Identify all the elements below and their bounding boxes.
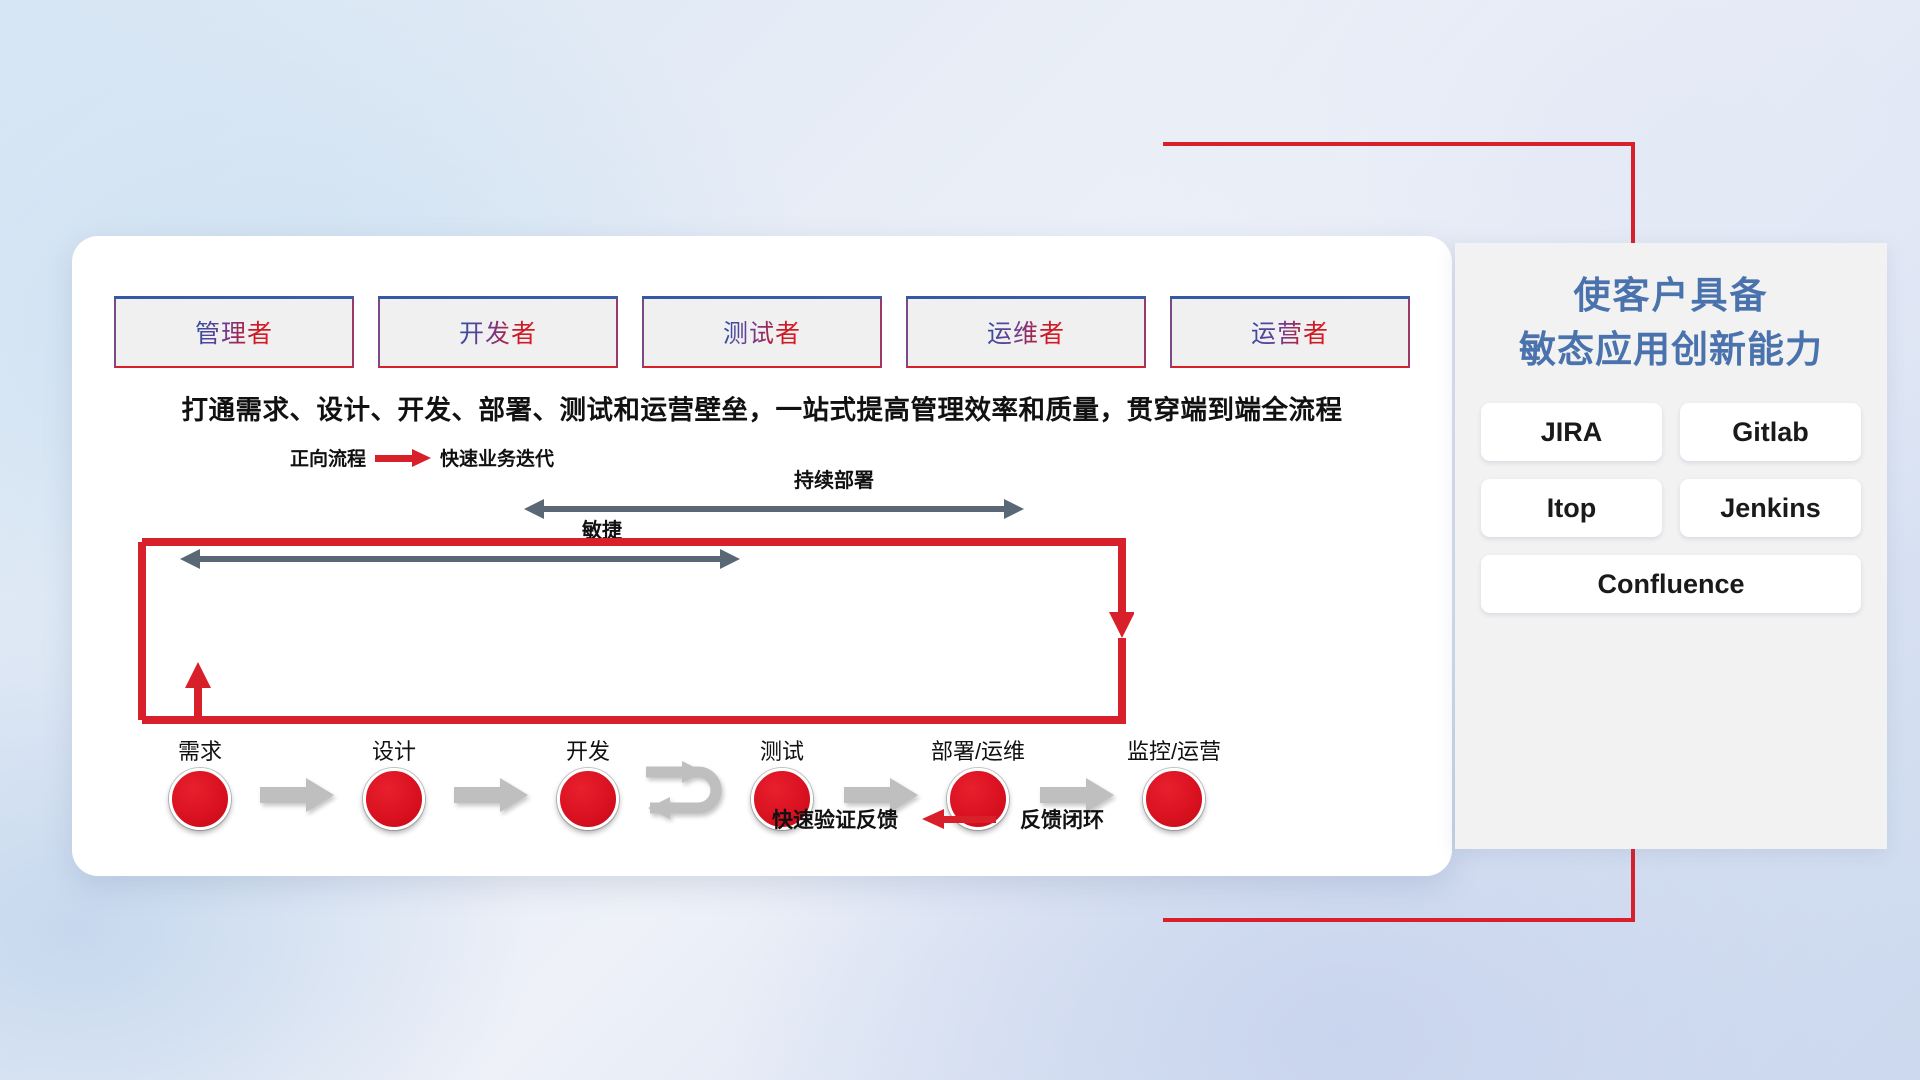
double-arrow-icon bbox=[180, 549, 740, 569]
tool-chip-gitlab[interactable]: Gitlab bbox=[1680, 403, 1861, 461]
span-agile: 敏捷 bbox=[180, 514, 740, 569]
arrow-head-right-icon bbox=[1004, 499, 1024, 519]
role-label: 测试者 bbox=[723, 314, 801, 350]
main-diagram-card: 管理者 开发者 测试者 运维者 运营者 打通需求、设计、开发、部署、测试和运营壁… bbox=[72, 236, 1452, 876]
role-label: 开发者 bbox=[459, 314, 537, 350]
pipeline-row: 需求 设计 开发 bbox=[72, 734, 1452, 854]
span-continuous-deployment: 持续部署 bbox=[524, 464, 1024, 519]
role-box-manager[interactable]: 管理者 bbox=[114, 296, 354, 368]
connector-arrow-right-icon bbox=[260, 778, 334, 812]
arrow-head-left-icon bbox=[180, 549, 200, 569]
panel-title-line1: 使客户具备 bbox=[1455, 269, 1887, 323]
stage-dot bbox=[1143, 768, 1205, 830]
arrow-left-red-icon bbox=[922, 810, 996, 828]
tool-chip-jira[interactable]: JIRA bbox=[1481, 403, 1662, 461]
description-text: 打通需求、设计、开发、部署、测试和运营壁垒，一站式提高管理效率和质量，贯穿端到端… bbox=[72, 388, 1452, 427]
value-proposition-panel: 使客户具备 敏态应用创新能力 JIRA Gitlab Itop Jenkins … bbox=[1455, 243, 1887, 849]
legend-feedback-right-label: 反馈闭环 bbox=[1020, 804, 1104, 834]
stage-label: 设计 bbox=[334, 734, 454, 766]
stage-label: 监控/运营 bbox=[1114, 734, 1234, 766]
pipeline-stage-monitor-operations[interactable]: 监控/运营 bbox=[1114, 734, 1234, 830]
stage-label: 部署/运维 bbox=[918, 734, 1038, 766]
role-label: 运维者 bbox=[987, 314, 1065, 350]
legend-feedback-loop: 快速验证反馈 反馈闭环 bbox=[772, 804, 1104, 834]
stage-dot bbox=[557, 768, 619, 830]
stage-label: 需求 bbox=[140, 734, 260, 766]
stage-dot bbox=[363, 768, 425, 830]
span-label-agile: 敏捷 bbox=[322, 514, 882, 543]
stage-label: 开发 bbox=[528, 734, 648, 766]
tool-chip-jenkins[interactable]: Jenkins bbox=[1680, 479, 1861, 537]
role-box-operations[interactable]: 运营者 bbox=[1170, 296, 1410, 368]
arrow-head-right-icon bbox=[720, 549, 740, 569]
role-box-ops[interactable]: 运维者 bbox=[906, 296, 1146, 368]
legend-forward-flow: 正向流程 快速业务迭代 bbox=[290, 444, 554, 471]
role-boxes-row: 管理者 开发者 测试者 运维者 运营者 bbox=[114, 296, 1410, 368]
connector-arrow-right-icon bbox=[454, 778, 528, 812]
role-box-developer[interactable]: 开发者 bbox=[378, 296, 618, 368]
pipeline-stage-requirement[interactable]: 需求 bbox=[140, 734, 260, 830]
pipeline-stage-design[interactable]: 设计 bbox=[334, 734, 454, 830]
arrow-shaft bbox=[542, 506, 1006, 512]
role-box-tester[interactable]: 测试者 bbox=[642, 296, 882, 368]
arrow-shaft bbox=[198, 556, 722, 562]
stage-dot bbox=[169, 768, 231, 830]
tool-chip-list: JIRA Gitlab Itop Jenkins Confluence bbox=[1481, 403, 1861, 613]
arrow-right-red-icon bbox=[375, 449, 431, 467]
legend-feedback-left-label: 快速验证反馈 bbox=[772, 804, 898, 834]
role-label: 运营者 bbox=[1251, 314, 1329, 350]
pipeline-stage-development[interactable]: 开发 bbox=[528, 734, 648, 830]
panel-title-line2: 敏态应用创新能力 bbox=[1455, 323, 1887, 377]
tool-chip-itop[interactable]: Itop bbox=[1481, 479, 1662, 537]
tool-chip-confluence[interactable]: Confluence bbox=[1481, 555, 1861, 613]
span-label-continuous-deployment: 持续部署 bbox=[584, 464, 1084, 493]
legend-forward-left-label: 正向流程 bbox=[290, 444, 366, 471]
role-label: 管理者 bbox=[195, 314, 273, 350]
panel-title: 使客户具备 敏态应用创新能力 bbox=[1455, 269, 1887, 377]
stage-label: 测试 bbox=[722, 734, 842, 766]
